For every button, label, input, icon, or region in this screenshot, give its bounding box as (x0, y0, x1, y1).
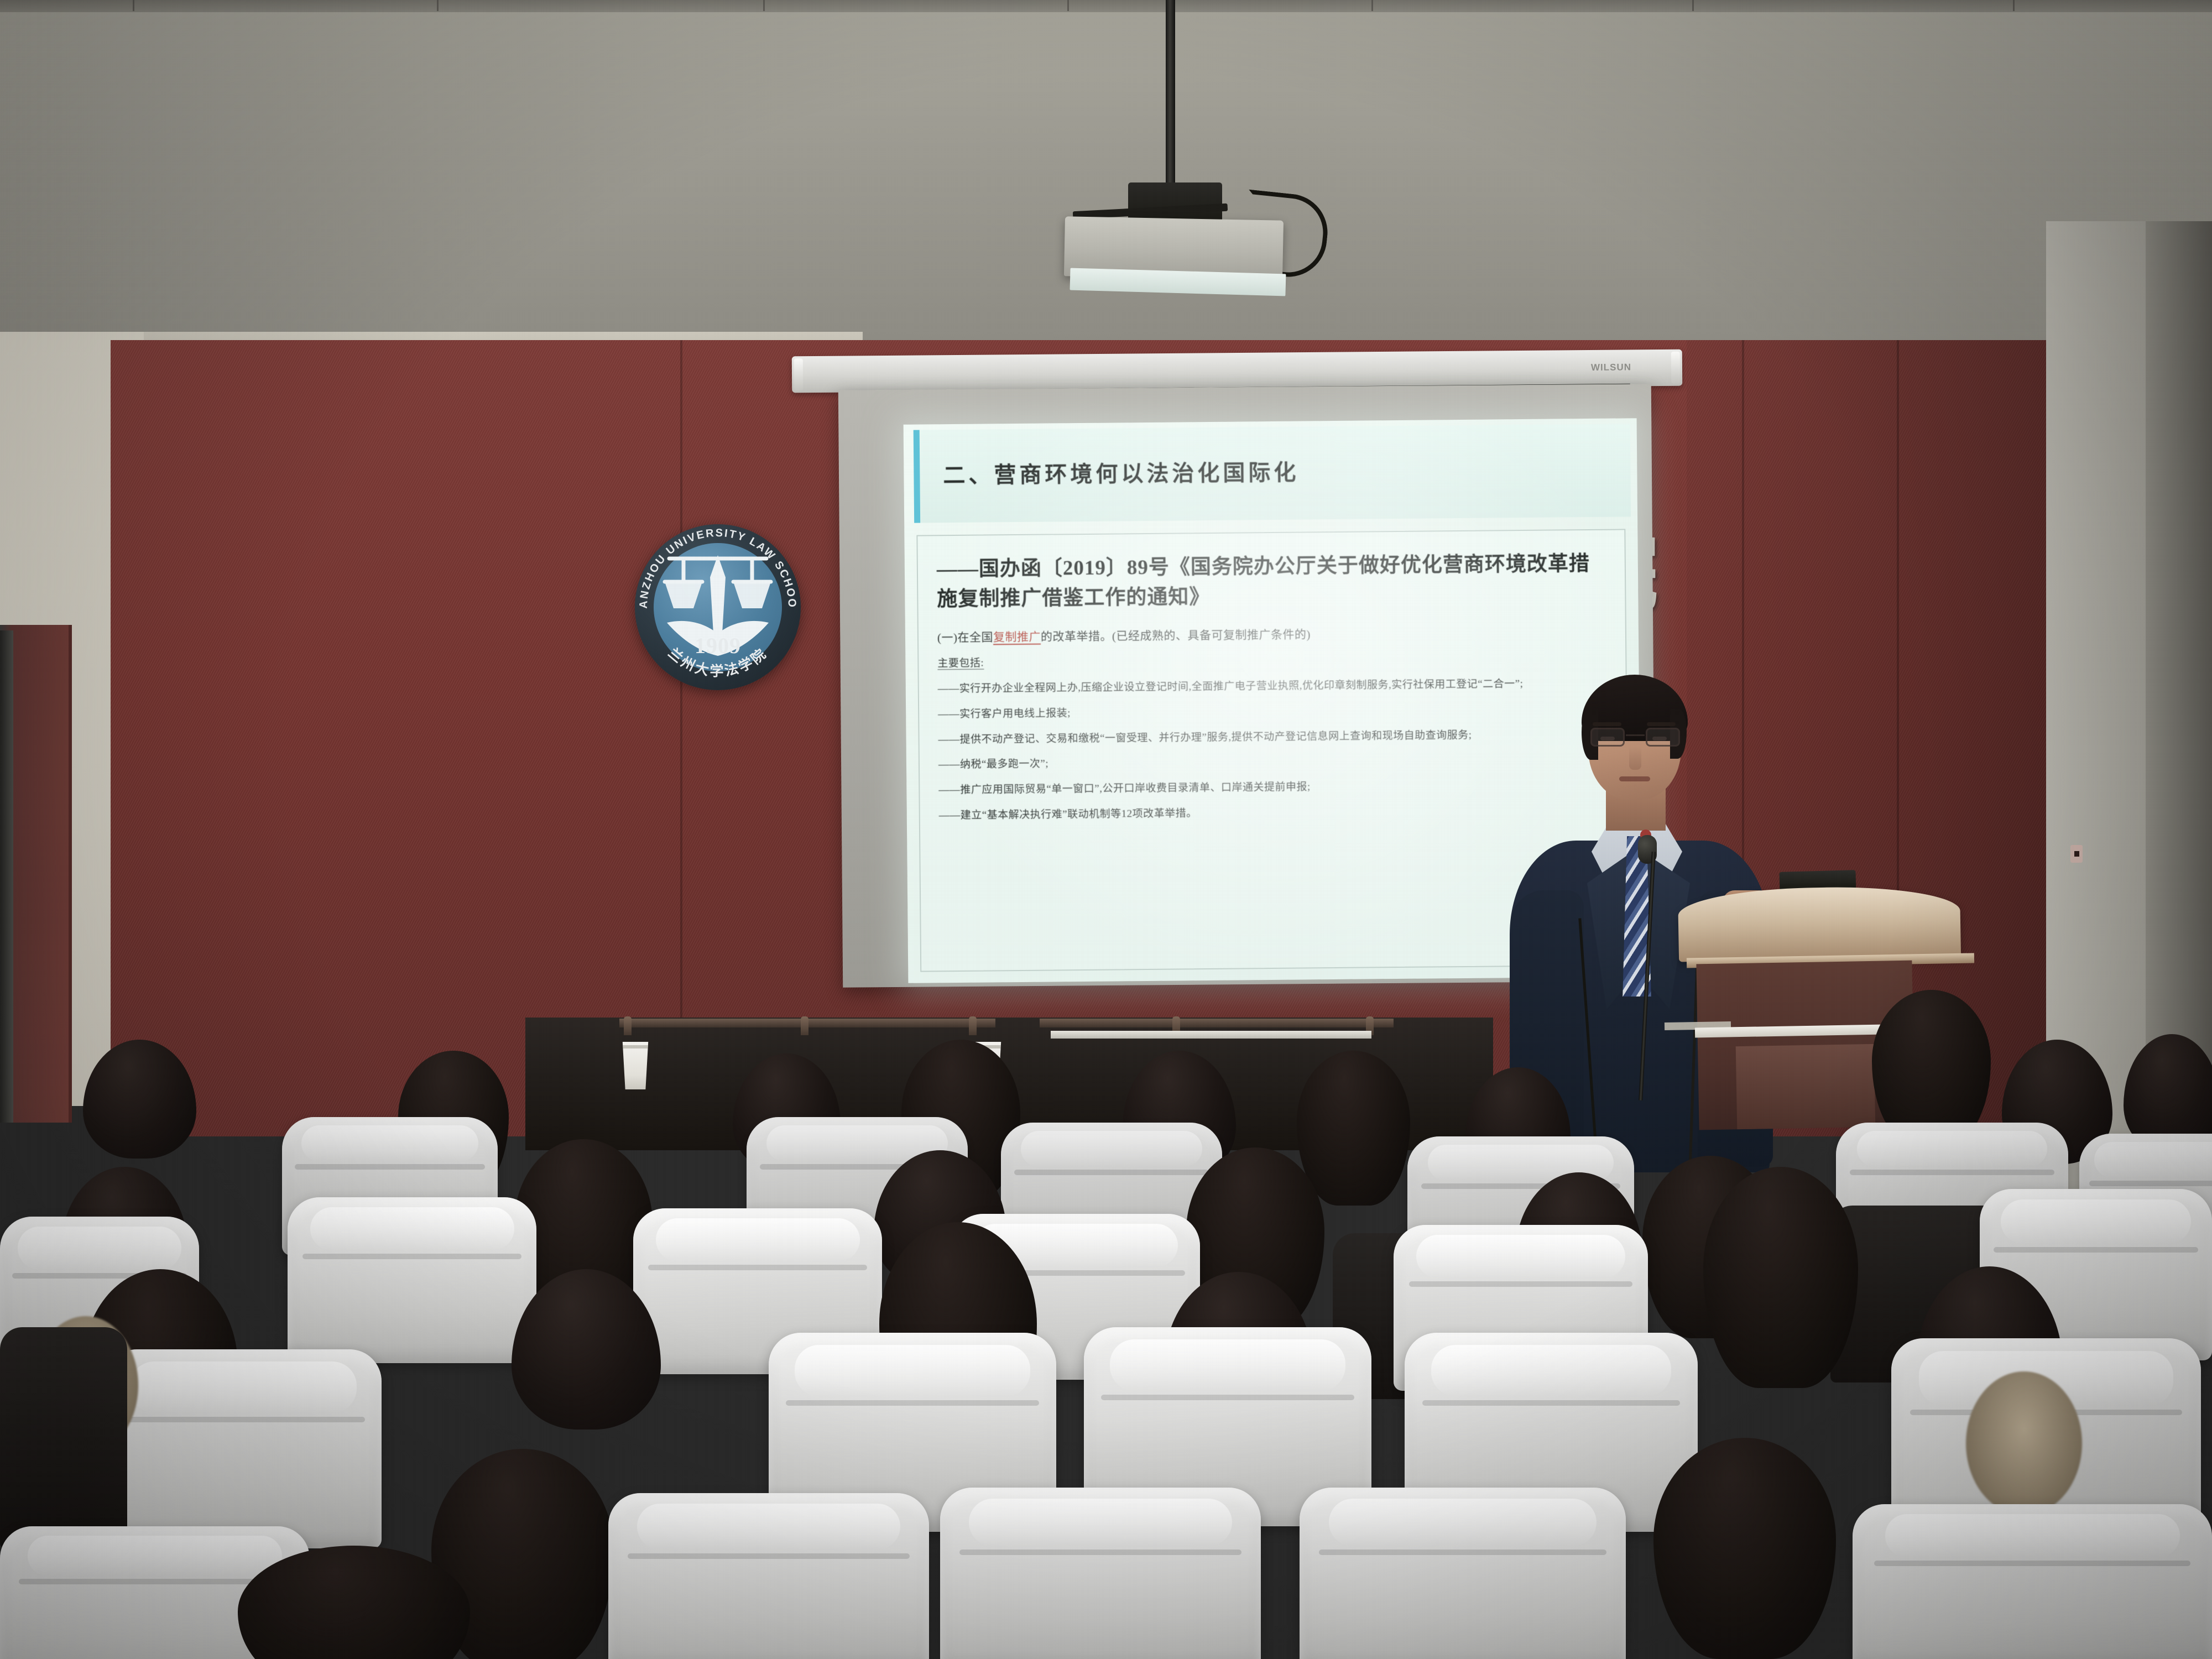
ceiling-seam (0, 0, 2212, 12)
audience-head (1872, 990, 1991, 1145)
audience-head (1297, 1051, 1410, 1206)
fur-collar (1966, 1371, 2082, 1515)
podium-lower-panel (1736, 1044, 1876, 1129)
roller-cap-left (794, 358, 803, 390)
slide-subhead-text: 主要包括: (937, 658, 984, 670)
ceiling (0, 0, 2212, 343)
audience-seat[interactable] (288, 1197, 536, 1363)
audience-seat[interactable] (608, 1493, 929, 1659)
slide-intro-line: (一)在全国复制推广的改革举措。(已经成熟的、具备可复制推广条件的) (937, 623, 1609, 648)
table-rail (1040, 1019, 1394, 1027)
speaker-mouth (1619, 776, 1650, 781)
wall-panel-seam (680, 340, 682, 1136)
table-post (624, 1016, 632, 1035)
ceiling-tile-line (437, 0, 439, 11)
podium-top-surface[interactable] (1678, 885, 1961, 962)
slide-title: 二、营商环境何以法治化国际化 (943, 455, 1299, 490)
audience-coat (0, 1327, 127, 1548)
glasses-icon (1589, 728, 1681, 747)
speaker-nose (1629, 747, 1641, 770)
speaker-eyebrow-right (1647, 722, 1676, 726)
paper-cup[interactable] (620, 1042, 650, 1089)
slide-title-box: 二、营商环境何以法治化国际化 (914, 424, 1631, 523)
ceiling-tile-line (133, 0, 134, 11)
table-post (969, 1016, 977, 1035)
audience-seat[interactable] (105, 1349, 382, 1548)
glasses-lens-left (1590, 728, 1625, 747)
ceiling-tile-line (1067, 0, 1069, 11)
ceiling-tile-line (1371, 0, 1373, 11)
ceiling-tile-line (763, 0, 765, 11)
roller-cap-right (1671, 352, 1680, 384)
slide-intro-prefix: (一)在全国 (937, 631, 993, 645)
law-school-emblem: LANZHOU UNIVERSITY LAW SCHOOL 兰州大学法学院 19… (635, 524, 801, 690)
ceiling-tile-line (1692, 0, 1694, 11)
audience-seat[interactable] (1300, 1488, 1626, 1659)
slide-intro-highlight: 复制推广 (993, 630, 1041, 645)
slide-source-line: ——国办函〔2019〕89号《国务院办公厅关于做好优化营商环境改革措施复制推广借… (937, 549, 1609, 614)
door-gap[interactable] (0, 630, 13, 1123)
wall-outlet-icon[interactable] (2070, 845, 2083, 863)
audience-head (1653, 1438, 1836, 1659)
speaker-eyebrow-left (1593, 722, 1621, 726)
emblem-year: 1909 (635, 633, 801, 659)
roller-brand-label: WILSUN (1591, 362, 1631, 373)
audience-head (1703, 1167, 1858, 1388)
audience-seat[interactable] (1853, 1504, 2212, 1659)
table-post (801, 1016, 808, 1035)
table-white-strip (1051, 1031, 1371, 1039)
glasses-bridge (1626, 734, 1645, 736)
glasses-lens-right (1646, 728, 1680, 747)
audience-seat[interactable] (940, 1488, 1261, 1659)
projector-mount-pole (1166, 0, 1175, 194)
slide-intro-suffix: 的改革举措。(已经成熟的、具备可复制推广条件的) (1041, 628, 1311, 644)
ceiling-tile-line (2013, 0, 2015, 11)
lecture-hall-photo: 院 OL LANZHOU UNIVERSITY LAW SCHOOL 兰州大学法… (0, 0, 2212, 1659)
